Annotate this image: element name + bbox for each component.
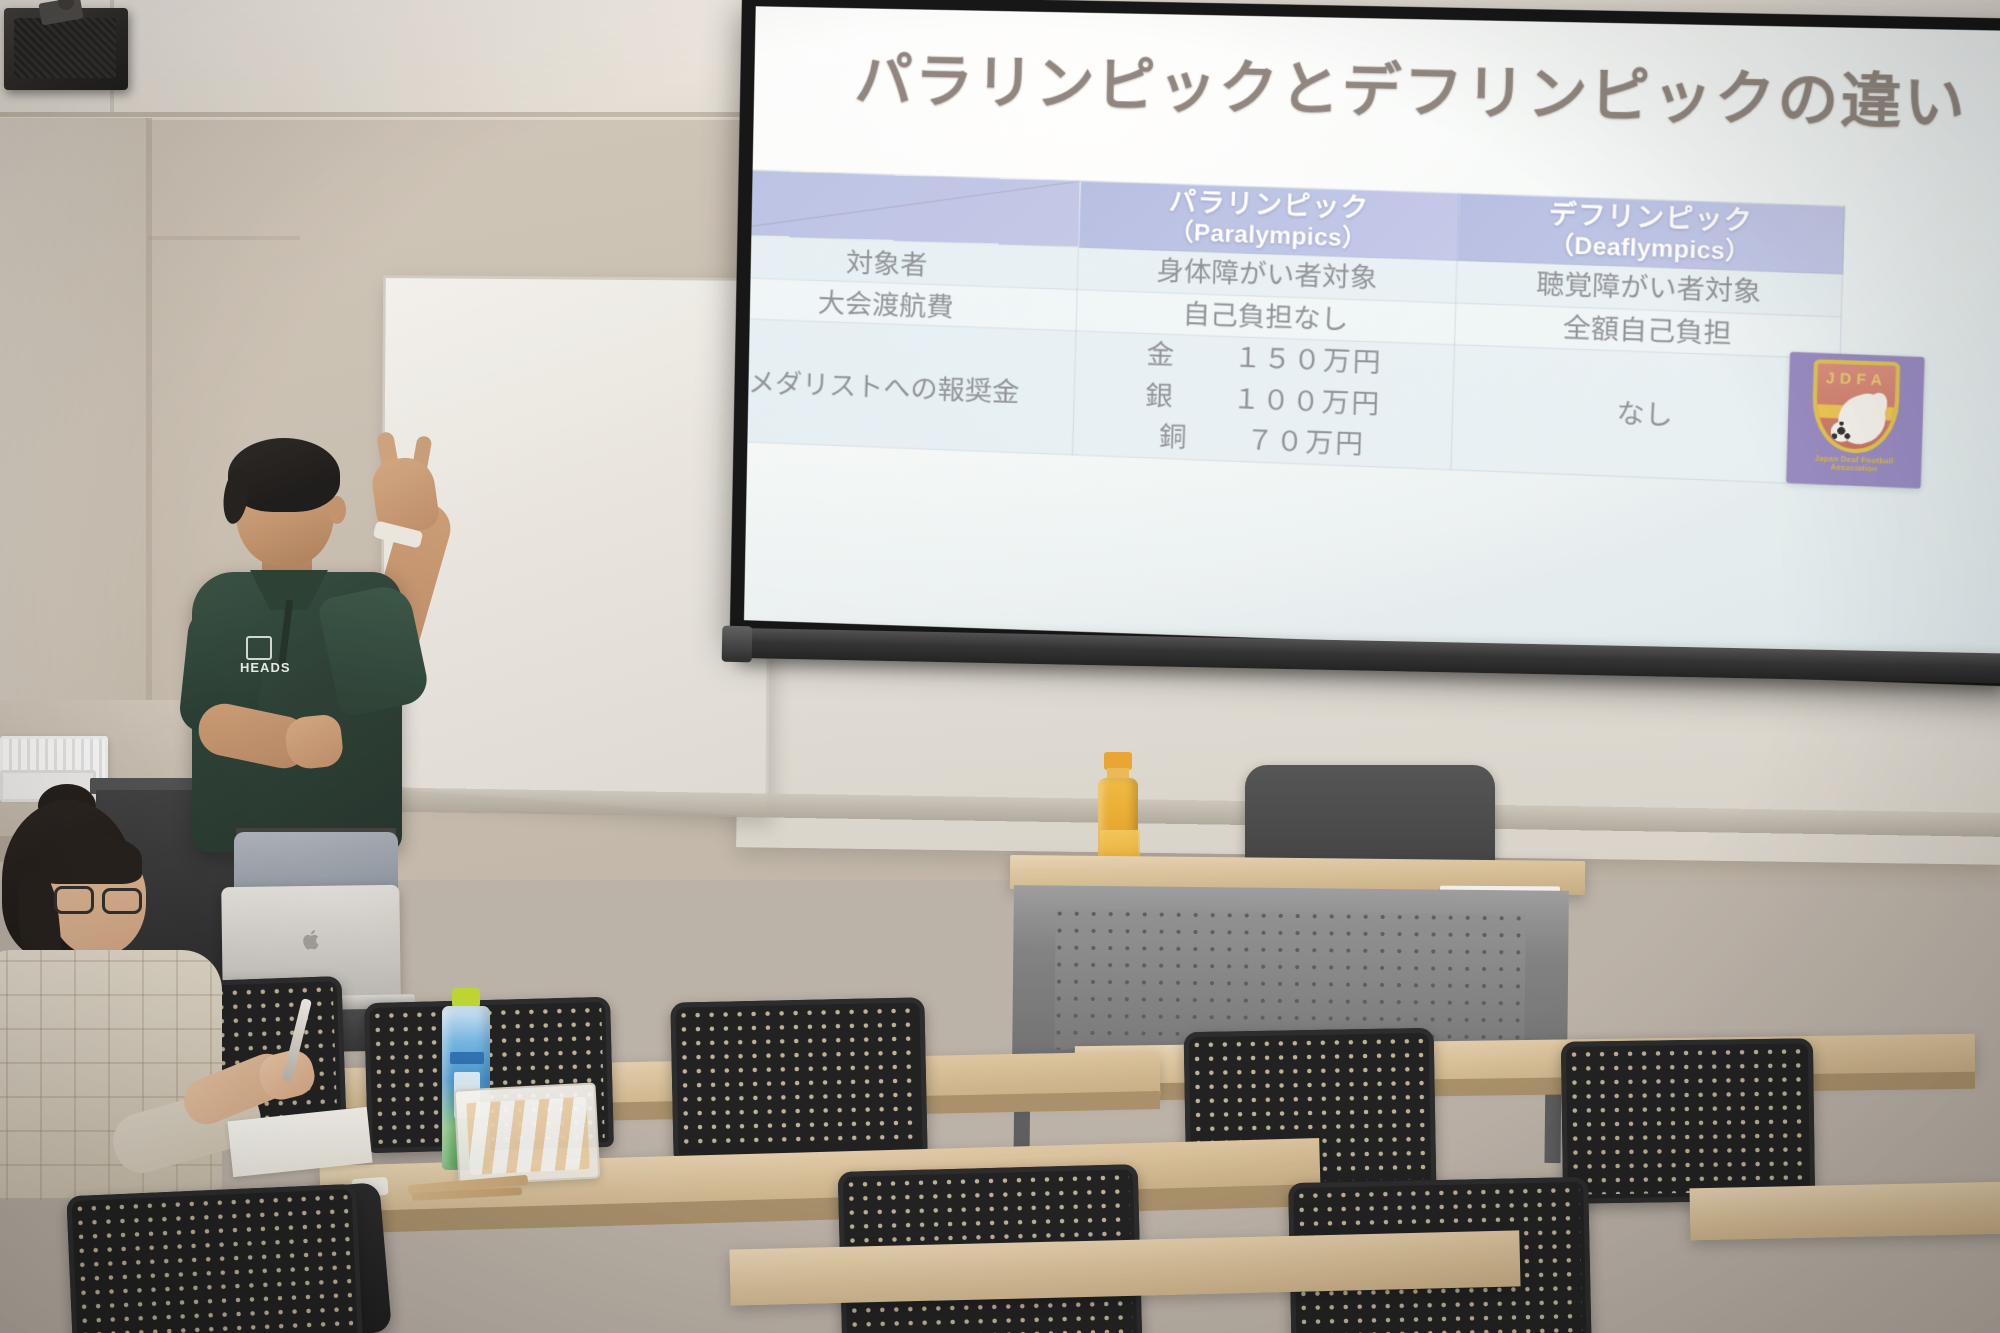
ceiling-speaker (4, 8, 128, 90)
lecture-room-photo: パラリンピックとデフリンピックの違い パラリンピック （Paralympics）… (0, 0, 2000, 1333)
cell-medal-bonus-deaflympics: なし (1451, 345, 1840, 485)
comparison-table: パラリンピック （Paralympics） デフリンピック （Deaflympi… (744, 168, 1845, 485)
slide-content: パラリンピックとデフリンピックの違い パラリンピック （Paralympics）… (744, 6, 2000, 664)
wall-column (0, 118, 148, 758)
tea-brand-label (450, 1052, 484, 1064)
shield-icon: JDFA (1811, 359, 1900, 455)
shirt-logo-mark-icon (246, 636, 272, 660)
medal-label-silver: 銀 (1145, 375, 1207, 418)
row-label-medal-bonus: メダリストへの報奨金 (744, 317, 1077, 454)
desk-far-right (1689, 1182, 2000, 1241)
screen-roller-endcap (722, 626, 753, 663)
speaker-grille-icon (14, 18, 116, 78)
slide-title: パラリンピックとデフリンピックの違い (844, 32, 1979, 141)
ceiling-seam (0, 112, 780, 117)
shield-letters: JDFA (1817, 369, 1895, 389)
snack-contents (466, 1097, 590, 1175)
medal-amount-bronze: ７０万円 (1246, 420, 1366, 466)
glasses-lens-right (102, 888, 142, 914)
jdfa-logo: JDFA Japan Deaf Football Association (1786, 352, 1925, 489)
chair-frame (66, 1184, 363, 1333)
snack-package (454, 1082, 601, 1185)
chair (1561, 1038, 1815, 1204)
table-corner-cell (744, 168, 1081, 247)
chair-frame (670, 997, 927, 1160)
medal-amount-silver: １００万円 (1232, 378, 1382, 425)
glasses-icon (54, 886, 146, 916)
logo-caption: Japan Deaf Football Association (1792, 454, 1917, 476)
medal-label-gold: 金 (1146, 334, 1208, 377)
chair (670, 997, 927, 1160)
medal-label-bronze: 銅 (1158, 416, 1220, 459)
chair-frame (1561, 1038, 1815, 1204)
student-plaid-pattern (0, 950, 222, 1200)
medal-amount-gold: １５０万円 (1233, 337, 1383, 384)
shirt-logo-text: HEADS (240, 660, 291, 675)
shirt-logo: HEADS (240, 636, 306, 678)
wall-column-edge (146, 118, 152, 758)
glasses-lens-left (54, 886, 94, 914)
tea-bottle-cap (452, 988, 480, 1008)
student-bangs (38, 834, 142, 884)
projection-surface: パラリンピックとデフリンピックの違い パラリンピック （Paralympics）… (744, 6, 2000, 664)
projection-screen: パラリンピックとデフリンピックの違い パラリンピック （Paralympics）… (730, 0, 2000, 687)
chair (66, 1184, 363, 1333)
cell-medal-bonus-paralympics: 金 １５０万円 銀 １００万円 銅 ７０万円 (1073, 331, 1455, 469)
